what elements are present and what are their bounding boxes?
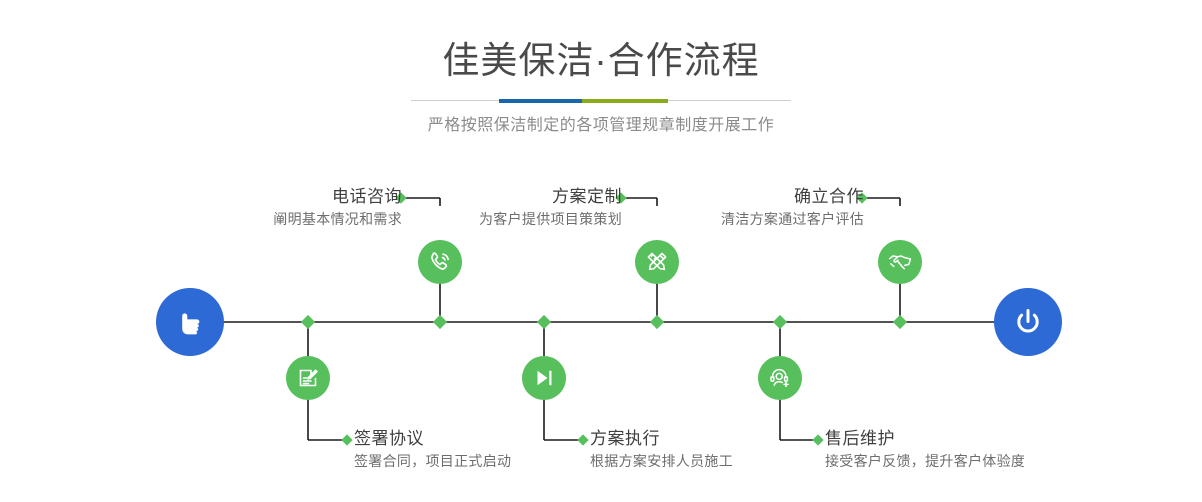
axis-diamond-6 bbox=[893, 315, 907, 329]
flow-connectors bbox=[0, 0, 1202, 502]
step-label-6-desc: 接受客户反馈，提升客户体验度 bbox=[825, 450, 1145, 472]
step-label-6-title: 售后维护 bbox=[825, 428, 1145, 450]
label-diamond-step-2 bbox=[341, 434, 352, 445]
flow-start-node[interactable] bbox=[156, 288, 224, 356]
step-label-5: 确立合作 清洁方案通过客户评估 bbox=[572, 186, 864, 230]
process-flow-diagram: 电话咨询 阐明基本情况和需求 签署协议 签署合同，项目正式启动 bbox=[0, 0, 1202, 502]
axis-diamond-3 bbox=[537, 315, 551, 329]
play-execute-icon bbox=[531, 365, 557, 391]
step-node-3[interactable] bbox=[635, 240, 679, 284]
flow-end-node[interactable] bbox=[994, 288, 1062, 356]
handshake-icon bbox=[887, 249, 913, 275]
axis-diamond-2 bbox=[433, 315, 447, 329]
pointing-hand-icon bbox=[172, 304, 208, 340]
document-sign-icon bbox=[295, 365, 321, 391]
axis-diamond-5 bbox=[773, 315, 787, 329]
cooperation-process-infographic: 佳美保洁·合作流程 严格按照保洁制定的各项管理规章制度开展工作 bbox=[0, 0, 1202, 502]
step-node-6[interactable] bbox=[758, 356, 802, 400]
step-node-1[interactable] bbox=[418, 240, 462, 284]
step-node-4[interactable] bbox=[522, 356, 566, 400]
pencil-ruler-icon bbox=[644, 249, 670, 275]
step-label-6: 售后维护 接受客户反馈，提升客户体验度 bbox=[825, 428, 1145, 472]
power-icon bbox=[1010, 304, 1046, 340]
axis-diamond-1 bbox=[301, 315, 315, 329]
phone-call-icon bbox=[427, 249, 453, 275]
step-label-5-title: 确立合作 bbox=[572, 186, 864, 208]
label-diamond-markers bbox=[341, 192, 867, 445]
customer-support-icon bbox=[767, 365, 793, 391]
step-node-2[interactable] bbox=[286, 356, 330, 400]
step-node-5[interactable] bbox=[878, 240, 922, 284]
axis-diamond-4 bbox=[650, 315, 664, 329]
step-label-5-desc: 清洁方案通过客户评估 bbox=[572, 208, 864, 230]
